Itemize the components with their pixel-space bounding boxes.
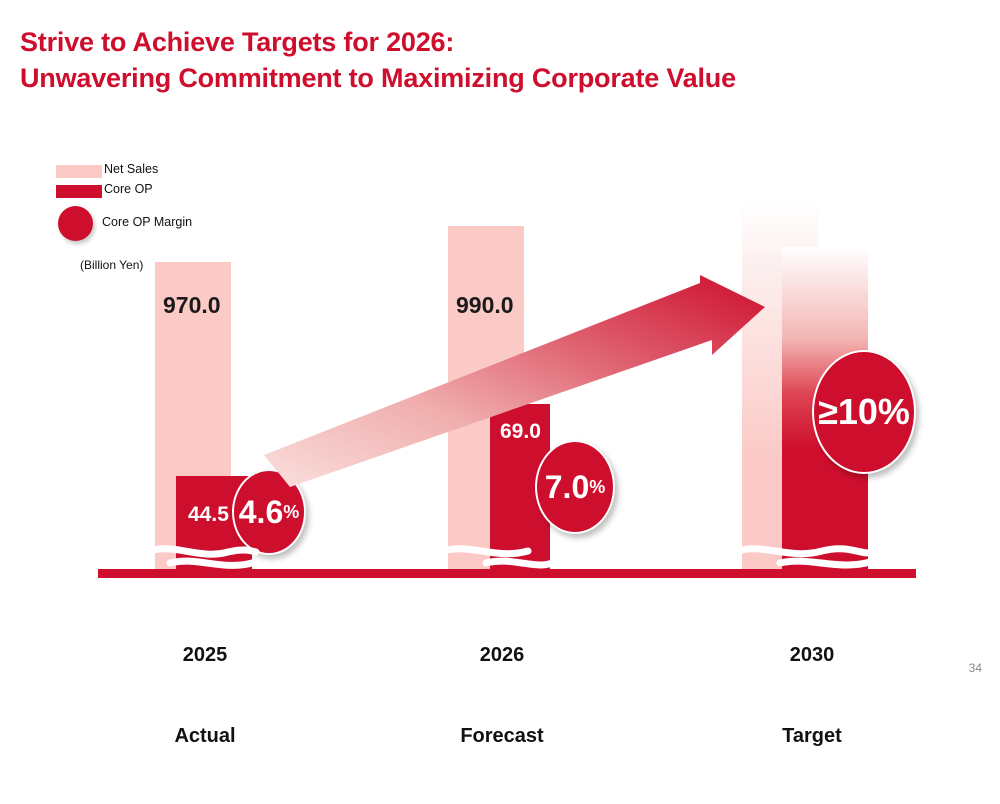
bubble-percent-2026: %	[589, 478, 605, 496]
bubble-core-op-margin-2025: 4.6%	[232, 469, 306, 555]
value-net-sales-2025: 970.0	[163, 292, 221, 319]
value-core-op-2025: 44.5	[188, 503, 229, 527]
bubble-percent-2025: %	[283, 503, 299, 521]
value-core-op-2026: 69.0	[500, 420, 541, 444]
x-axis-sub-2025: Actual	[130, 723, 280, 750]
bubble-core-op-margin-2026: 7.0%	[535, 440, 615, 534]
bubble-value-2030: ≥10%	[818, 394, 910, 430]
page-number: 34	[969, 661, 982, 675]
x-axis-label-2030: 2030 Target	[737, 588, 887, 804]
x-axis-year-2025: 2025	[130, 642, 280, 669]
x-axis-sub-2026: Forecast	[427, 723, 577, 750]
slide-root: Strive to Achieve Targets for 2026: Unwa…	[0, 0, 1000, 685]
bubble-value-2026: 7.0	[545, 471, 589, 503]
chart-baseline-axis	[98, 569, 916, 578]
x-axis-year-2030: 2030	[737, 642, 887, 669]
bubble-core-op-margin-2030: ≥10%	[812, 350, 916, 474]
x-axis-label-2026: 2026 Forecast	[427, 588, 577, 804]
x-axis-year-2026: 2026	[427, 642, 577, 669]
x-axis-sub-2030: Target	[737, 723, 887, 750]
bubble-value-2025: 4.6	[239, 496, 283, 528]
value-net-sales-2026: 990.0	[456, 292, 514, 319]
bar-chart: 970.0 44.5 4.6% 990.0 69.0 7.0% ≥10%	[0, 0, 1000, 685]
x-axis-label-2025: 2025 Actual	[130, 588, 280, 804]
